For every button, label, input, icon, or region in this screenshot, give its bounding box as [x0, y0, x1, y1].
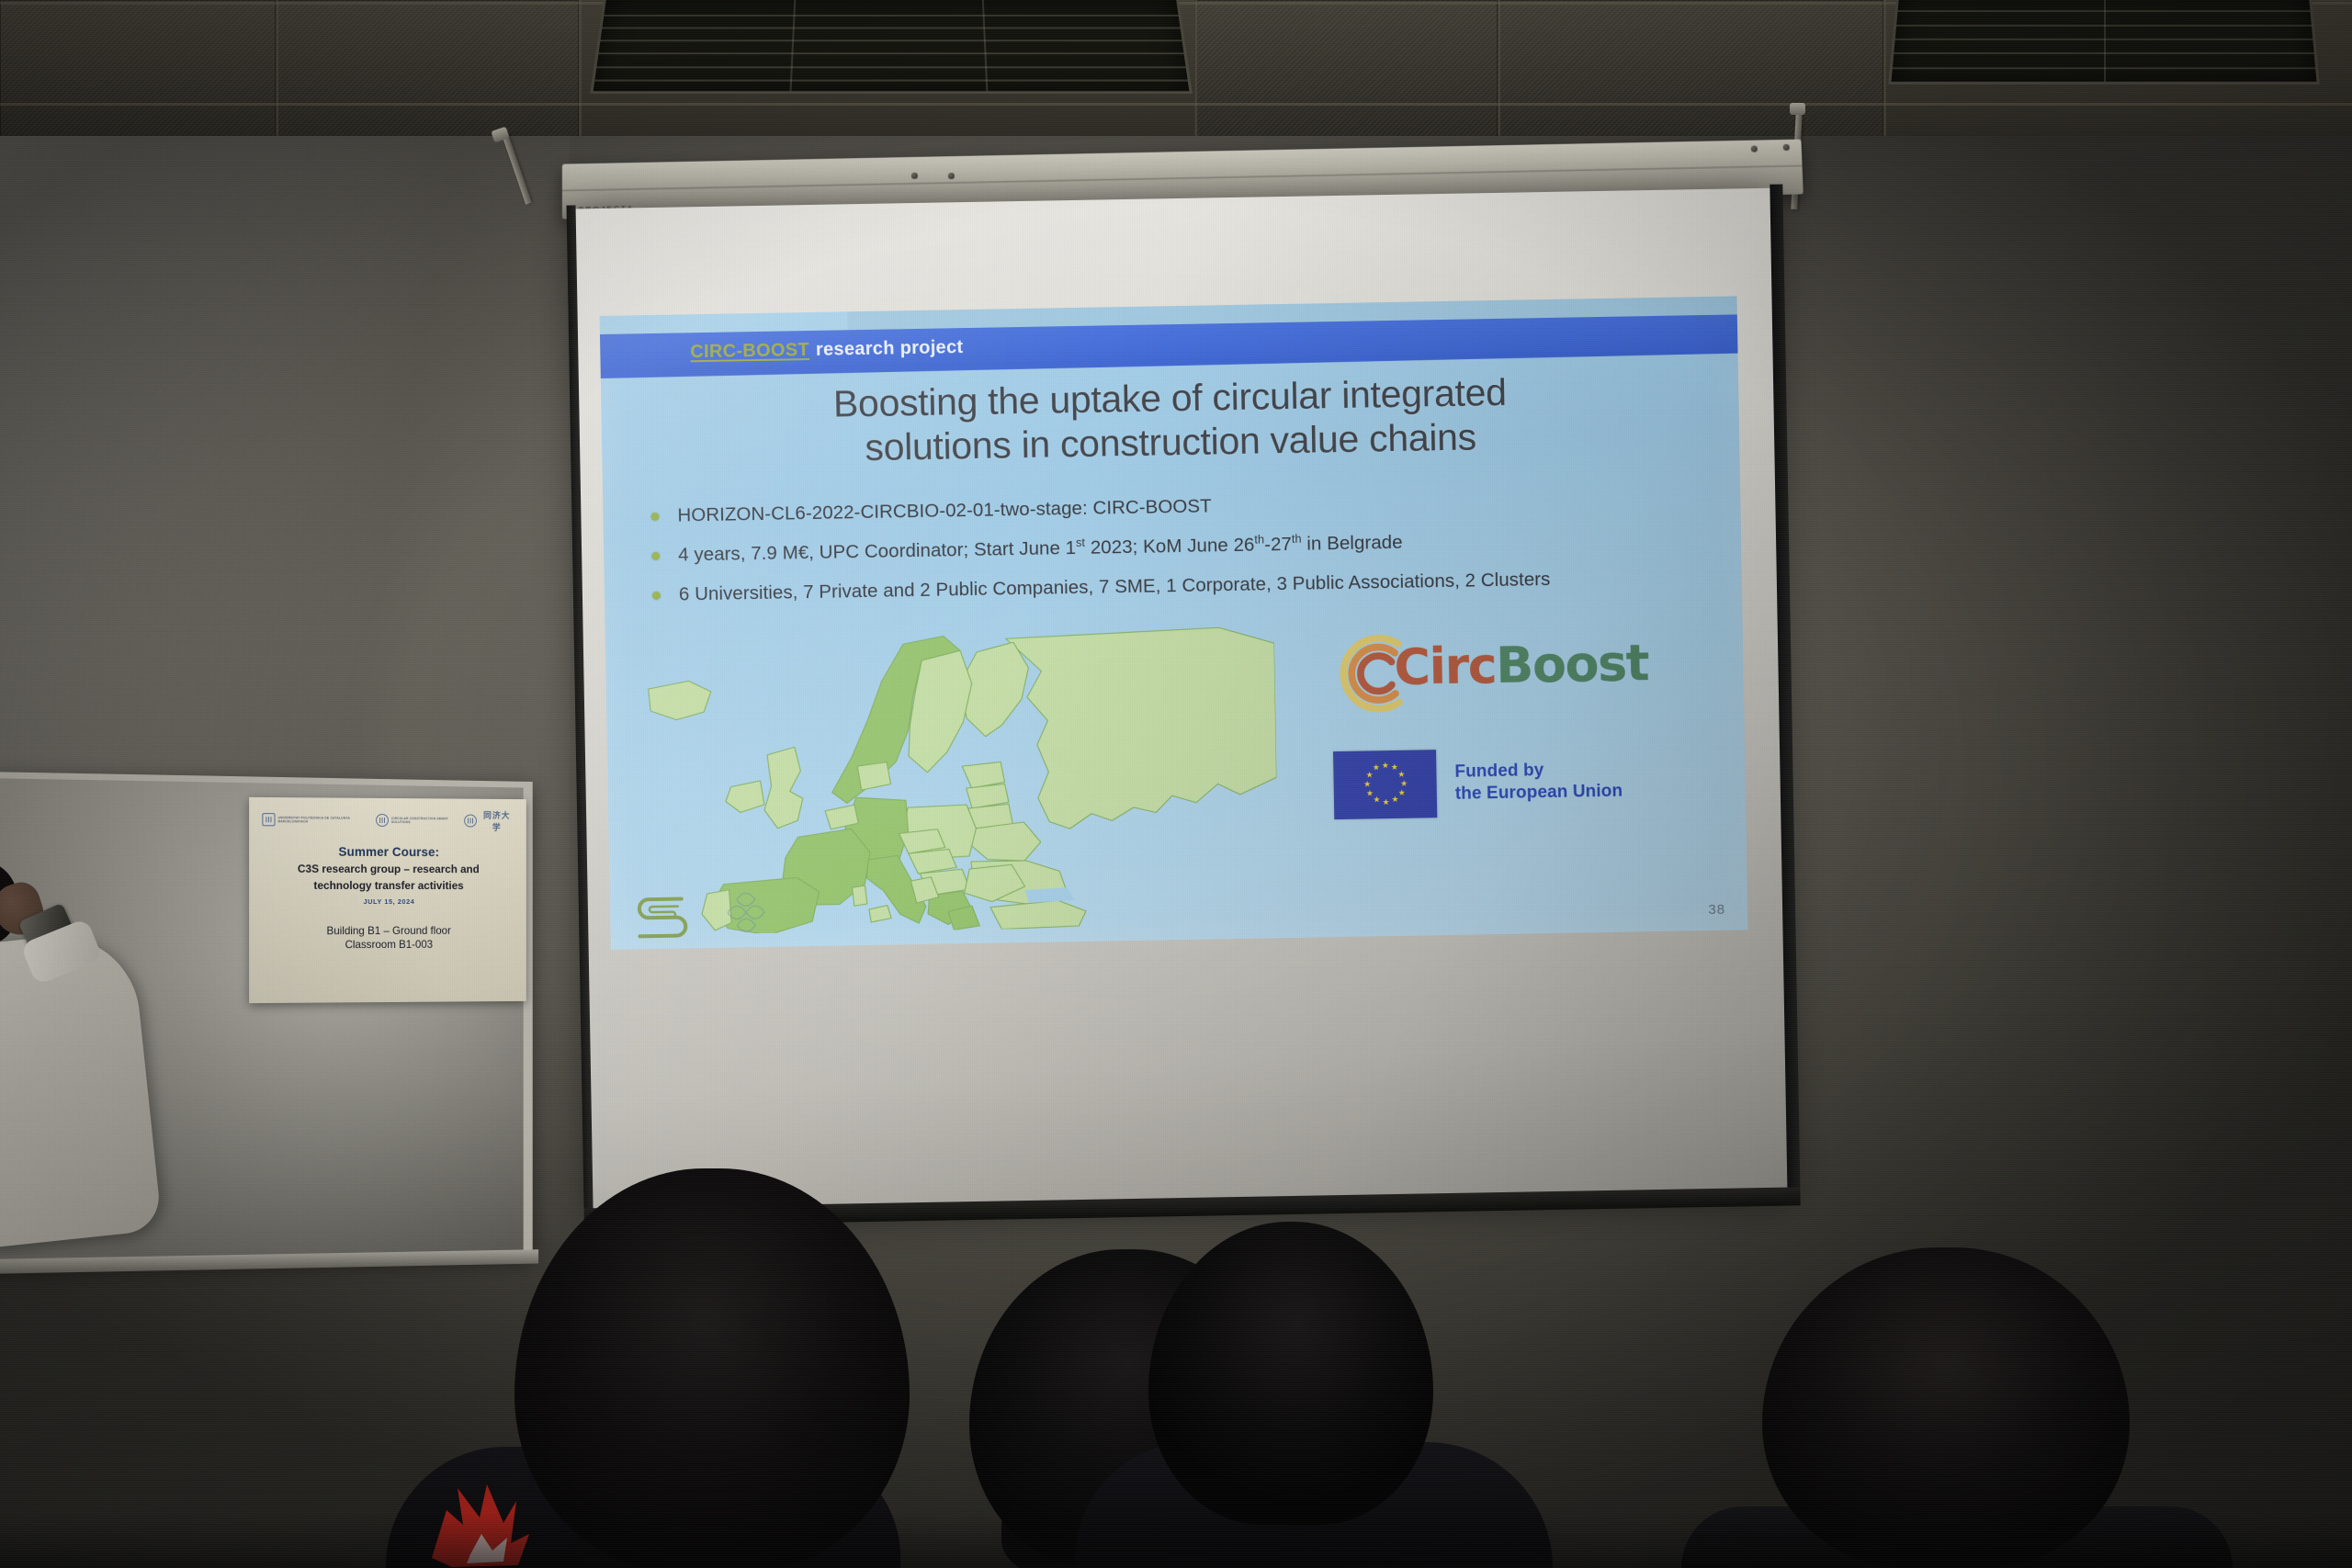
poster-subtitle-line2: technology transfer activities [258, 879, 517, 893]
upc-mark-icon [262, 813, 275, 826]
tongji-logo-cn: 同济大学 [480, 809, 514, 833]
c3s-logo-text: CIRCULAR CONSTRUCTION SMART SOLUTIONS [391, 817, 465, 825]
poster-date: JULY 15, 2024 [258, 897, 517, 906]
tongji-logo: 同济大学 [465, 809, 514, 833]
foreground-shadow [0, 1513, 2352, 1568]
poster-subtitle-line1: C3S research group – research and [258, 863, 517, 876]
c3s-logo: CIRCULAR CONSTRUCTION SMART SOLUTIONS [376, 814, 465, 828]
ceiling-vent-left [590, 0, 1193, 94]
tongji-mark-icon [465, 815, 478, 828]
course-poster: UNIVERSITAT POLITÈCNICA DE CATALUNYA BAR… [249, 797, 526, 1003]
ceiling [0, 0, 2352, 138]
projection-screen: CIRC-BOOST research project Boosting the… [576, 188, 1788, 1211]
poster-heading: Summer Course: [258, 844, 517, 859]
screen-mount-cap-right [1790, 103, 1805, 115]
classroom-photo-scene: UNIVERSITAT POLITÈCNICA DE CATALUNYA BAR… [0, 0, 2352, 1568]
poster-location-line1: Building B1 – Ground floor [258, 924, 517, 939]
c3s-mark-icon [376, 814, 389, 827]
poster-location-line2: Classroom B1-003 [258, 937, 517, 952]
upc-logo-text: UNIVERSITAT POLITÈCNICA DE CATALUNYA BAR… [278, 816, 376, 824]
poster-logo-row: UNIVERSITAT POLITÈCNICA DE CATALUNYA BAR… [262, 807, 514, 833]
upc-logo: UNIVERSITAT POLITÈCNICA DE CATALUNYA BAR… [262, 813, 376, 827]
ceiling-vent-right [1888, 0, 2320, 85]
